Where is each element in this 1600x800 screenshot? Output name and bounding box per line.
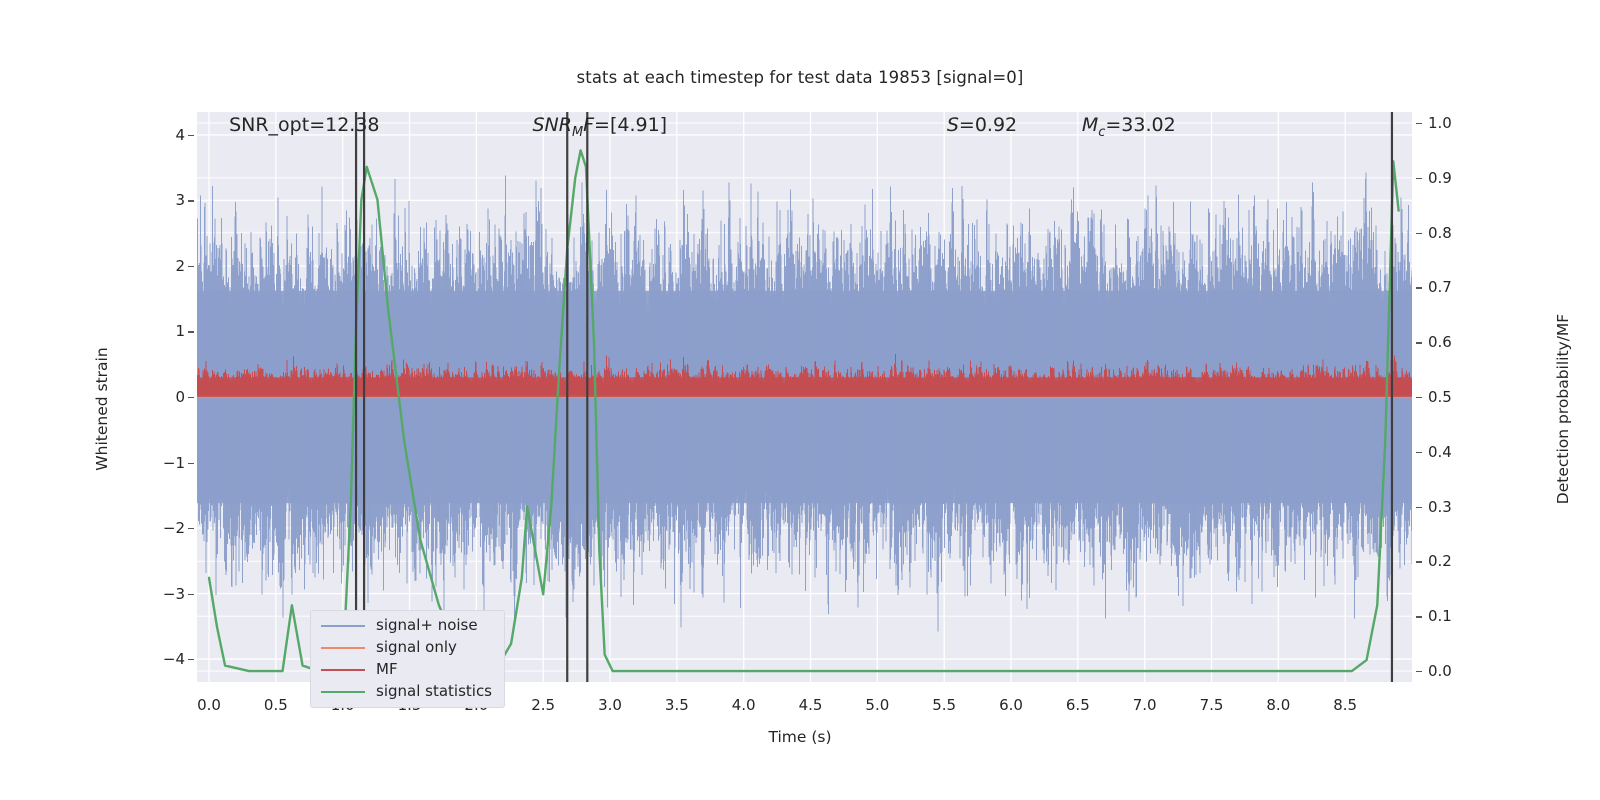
legend-item-signal-only[interactable]: signal only [321, 640, 492, 655]
y-tick-mark-left [188, 463, 194, 464]
x-tick: 5.5 [914, 696, 974, 714]
y-tick-mark-right [1416, 178, 1422, 179]
x-tick: 7.0 [1115, 696, 1175, 714]
y-tick-right: 0.9 [1428, 169, 1488, 187]
annotation-snr-mf: SNRMF=[4.91] [532, 114, 667, 140]
legend-label: signal+ noise [376, 618, 478, 633]
legend-color-swatch [321, 625, 365, 627]
y-tick-left: 0 [139, 388, 185, 406]
y-tick-right: 1.0 [1428, 114, 1488, 132]
x-tick: 7.5 [1182, 696, 1242, 714]
y-tick-mark-right [1416, 123, 1422, 124]
y-tick-left: −4 [139, 650, 185, 668]
y-tick-mark-left [188, 528, 194, 529]
annotation-snr-opt: SNR_opt=12.38 [229, 114, 379, 136]
vertical-marker-lines [197, 112, 1412, 682]
y-tick-mark-right [1416, 561, 1422, 562]
x-tick: 4.0 [714, 696, 774, 714]
legend-item-signal-noise[interactable]: signal+ noise [321, 618, 492, 633]
y-tick-right: 0.0 [1428, 662, 1488, 680]
x-tick: 3.0 [580, 696, 640, 714]
y-tick-right: 0.5 [1428, 388, 1488, 406]
y-tick-mark-left [188, 659, 194, 660]
y-tick-left: 2 [139, 257, 185, 275]
y-tick-mark-right [1416, 342, 1422, 343]
chart-legend[interactable]: signal+ noisesignal onlyMFsignal statist… [310, 610, 505, 708]
y-tick-mark-left [188, 397, 194, 398]
y-tick-right: 0.6 [1428, 333, 1488, 351]
y-tick-mark-left [188, 594, 194, 595]
y-tick-left: 1 [139, 322, 185, 340]
y-tick-mark-right [1416, 507, 1422, 508]
legend-color-swatch [321, 669, 365, 671]
y-tick-mark-right [1416, 452, 1422, 453]
y-tick-right: 0.7 [1428, 278, 1488, 296]
x-tick: 6.5 [1048, 696, 1108, 714]
y-tick-mark-right [1416, 233, 1422, 234]
x-tick: 0.5 [246, 696, 306, 714]
y-tick-left: −3 [139, 585, 185, 603]
y-tick-right: 0.3 [1428, 498, 1488, 516]
y-tick-right: 0.8 [1428, 224, 1488, 242]
legend-label: MF [376, 662, 398, 677]
annotation-mc: Mc=33.02 [1082, 114, 1176, 140]
y-tick-left: −2 [139, 519, 185, 537]
y-tick-left: −1 [139, 454, 185, 472]
y-tick-right: 0.1 [1428, 607, 1488, 625]
y-tick-left: 4 [139, 126, 185, 144]
x-tick: 8.0 [1248, 696, 1308, 714]
y-tick-mark-left [188, 200, 194, 201]
legend-color-swatch [321, 691, 365, 693]
y-tick-mark-left [188, 331, 194, 332]
y-tick-mark-left [188, 266, 194, 267]
legend-item-signal-statistics[interactable]: signal statistics [321, 684, 492, 699]
y-tick-mark-right [1416, 616, 1422, 617]
annotation-s: S=0.92 [947, 114, 1017, 136]
legend-label: signal only [376, 640, 457, 655]
x-tick: 4.5 [781, 696, 841, 714]
legend-item-mf[interactable]: MF [321, 662, 492, 677]
y-tick-right: 0.4 [1428, 443, 1488, 461]
legend-label: signal statistics [376, 684, 492, 699]
x-tick: 8.5 [1315, 696, 1375, 714]
x-tick: 2.5 [513, 696, 573, 714]
matplotlib-figure: stats at each timestep for test data 198… [0, 0, 1600, 800]
y-tick-left: 3 [139, 191, 185, 209]
y-tick-mark-right [1416, 397, 1422, 398]
x-tick: 5.0 [847, 696, 907, 714]
y-tick-mark-left [188, 135, 194, 136]
x-tick: 6.0 [981, 696, 1041, 714]
y-tick-mark-right [1416, 671, 1422, 672]
y-tick-mark-right [1416, 287, 1422, 288]
legend-color-swatch [321, 647, 365, 649]
x-tick: 3.5 [647, 696, 707, 714]
x-tick: 0.0 [179, 696, 239, 714]
y-tick-right: 0.2 [1428, 552, 1488, 570]
plot-area: SNR_opt=12.38 SNRMF=[4.91] S=0.92 Mc=33.… [197, 112, 1412, 682]
